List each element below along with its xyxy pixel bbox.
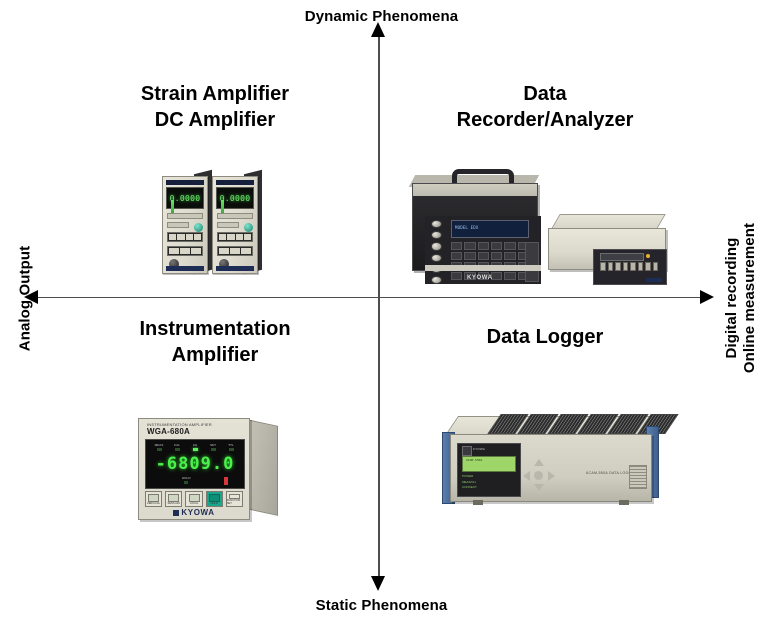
axis-label-left: Analog Output <box>17 229 34 369</box>
recorder-key <box>464 242 475 250</box>
led-icon <box>175 448 180 451</box>
amplifier-key <box>244 234 251 240</box>
wga-button-row: ZERO/CAL SENS ADJ LOCAL HOLD FUNCTION SE… <box>145 491 243 507</box>
status-led-ttl: TTL <box>224 443 238 451</box>
led-icon <box>157 448 162 451</box>
status-led-meas-label: MEAS <box>155 443 164 447</box>
expansion-port <box>623 262 629 271</box>
amplifier-key <box>180 248 190 254</box>
expansion-port <box>638 262 644 271</box>
status-led-ch-label: CH <box>193 443 197 447</box>
amplifier-slot <box>217 222 239 228</box>
kyowa-logo-icon <box>216 180 254 185</box>
quadrant-title-top-right-line1: Data <box>420 82 670 108</box>
amplifier-key <box>219 234 226 240</box>
product-image-data-logger: KYOWA UCAM-550A POWER MEAS/CH CONNECT UC… <box>432 412 682 518</box>
logger-lcd-display: UCAM-550A <box>462 456 516 472</box>
wga-button-local[interactable]: LOCAL <box>185 491 202 507</box>
kyowa-logo-icon <box>166 180 204 185</box>
wga-button-function-set-label: FUNCTION SET <box>227 499 242 505</box>
amplifier-unit: 0.0000 <box>212 176 258 274</box>
logger-lcd-line1: UCAM-550A <box>463 457 515 463</box>
recorder-key <box>504 272 515 280</box>
expansion-port <box>653 262 659 271</box>
recorder-chassis: MODEL EDX KYOWA <box>412 183 538 271</box>
amplifier-round-button-icon <box>244 223 253 232</box>
logger-indicator-connect: CONNECT <box>462 485 477 491</box>
status-led-cal-label: CAL <box>174 443 180 447</box>
recorder-knob-column <box>428 218 444 284</box>
quadrant-title-top-left-line1: Strain Amplifier <box>95 82 335 108</box>
amplifier-key <box>236 234 243 240</box>
expansion-port <box>630 262 636 271</box>
led-icon <box>184 481 188 484</box>
recorder-key <box>504 242 515 250</box>
amplifier-keypad <box>217 232 253 242</box>
wga-hold-indicator-label: HOLD <box>182 476 191 480</box>
product-image-strain-amplifier: 0.0000 0.0000 <box>150 168 262 280</box>
recorder-knob-icon <box>431 231 442 239</box>
quadrant-title-top-left: Strain Amplifier DC Amplifier <box>95 82 335 133</box>
wga-numeric-display: -6809.0 <box>152 453 238 475</box>
arrow-down-icon <box>371 576 385 591</box>
recorder-key <box>478 242 489 250</box>
logger-vent-grille <box>629 465 647 489</box>
recorder-key <box>464 252 475 260</box>
axis-label-right: Digital recording Online measurement <box>661 218 763 378</box>
recorder-key <box>451 242 462 250</box>
amplifier-key <box>169 248 179 254</box>
recorder-key <box>478 252 489 260</box>
amplifier-display: 0.0000 <box>216 187 254 209</box>
arrow-right-icon[interactable] <box>548 471 555 481</box>
recorder-key <box>504 252 515 260</box>
expansion-unit-chassis <box>548 228 666 270</box>
axis-label-right-line2: Online measurement <box>741 223 759 373</box>
logger-indicator-list: POWER MEAS/CH CONNECT <box>462 474 477 491</box>
product-image-data-recorder: MODEL EDX KYOWA <box>404 165 554 277</box>
amplifier-keypad <box>167 232 203 242</box>
horizontal-axis-line <box>32 297 710 299</box>
status-led-cal: CAL <box>170 443 184 451</box>
button-cap-icon <box>168 494 179 502</box>
quadrant-title-top-left-line2: DC Amplifier <box>95 108 335 134</box>
wga-status-led-row: MEAS CAL CH SET TTL <box>152 443 238 451</box>
status-led-set-label: SET <box>210 443 216 447</box>
recorder-key <box>451 272 462 280</box>
recorder-key <box>491 252 502 260</box>
wga-display-panel: MEAS CAL CH SET TTL -6809.0 <box>145 439 245 489</box>
amplifier-display-value: 0.0000 <box>170 194 201 203</box>
amplifier-key <box>241 248 251 254</box>
arrow-left-icon[interactable] <box>523 471 530 481</box>
recorder-knob-icon <box>431 254 442 262</box>
wga-button-zero-cal-label: ZERO/CAL <box>147 502 160 505</box>
expansion-port <box>645 262 651 271</box>
product-image-recorder-expansion-unit <box>548 212 670 286</box>
wga-model-label: WGA-680A <box>147 427 190 436</box>
amplifier-slot <box>167 222 189 228</box>
axis-label-right-line1: Digital recording <box>723 238 741 359</box>
kyowa-logo-mark-icon <box>173 510 179 516</box>
wga-hold-indicator: HOLD <box>182 476 191 484</box>
status-led-icon <box>646 254 650 258</box>
status-led-ttl-label: TTL <box>228 443 234 447</box>
wga-button-local-label: LOCAL <box>190 502 199 505</box>
wga-button-hold[interactable]: HOLD <box>206 491 223 507</box>
led-icon <box>211 448 216 451</box>
kyowa-logo-text: KYOWA <box>473 447 485 451</box>
logger-foot <box>619 500 629 505</box>
amplifier-display: 0.0000 <box>166 187 204 209</box>
recorder-key <box>451 252 462 260</box>
amplifier-unit: 0.0000 <box>162 176 208 274</box>
recorder-bottom-strip <box>425 265 541 271</box>
quadrant-title-bottom-left-line2: Amplifier <box>95 343 335 369</box>
recorder-knob-icon <box>431 276 442 284</box>
status-led-set: SET <box>206 443 220 451</box>
recorder-lcd-line1: MODEL EDX <box>455 225 478 230</box>
amplifier-key <box>169 234 176 240</box>
enter-button-icon[interactable] <box>534 471 543 480</box>
button-cap-icon <box>189 494 200 502</box>
amplifier-display-value: 0.0000 <box>220 194 251 203</box>
amplifier-key <box>230 248 240 254</box>
button-cap-icon <box>148 494 159 502</box>
status-led-meas: MEAS <box>152 443 166 451</box>
logger-direction-pad[interactable] <box>523 459 555 491</box>
amplifier-slot <box>217 213 253 219</box>
button-cap-icon <box>209 494 220 502</box>
expansion-port <box>615 262 621 271</box>
amplifier-key <box>177 234 184 240</box>
kyowa-logo-text: KYOWA <box>139 508 249 517</box>
amplifier-key <box>191 248 201 254</box>
quadrant-title-bottom-right-line1: Data Logger <box>420 325 670 351</box>
quadrant-diagram-canvas: Dynamic Phenomena Static Phenomena Analo… <box>0 0 763 628</box>
logger-chassis: KYOWA UCAM-550A POWER MEAS/CH CONNECT UC… <box>450 434 652 502</box>
led-icon <box>229 448 234 451</box>
kyowa-logo-text: KYOWA <box>467 275 493 281</box>
vertical-axis-line <box>378 34 380 586</box>
expansion-port <box>600 262 606 271</box>
amplifier-model-strip <box>216 266 254 271</box>
product-image-instrumentation-amplifier: INSTRUMENTATION AMPLIFIER WGA-680A MEAS … <box>134 416 282 520</box>
kyowa-logo-label: KYOWA <box>181 508 214 517</box>
amplifier-slot <box>167 213 203 219</box>
logger-front-panel: KYOWA UCAM-550A POWER MEAS/CH CONNECT <box>457 443 521 497</box>
expansion-port <box>608 262 614 271</box>
recorder-knob-icon <box>431 242 442 250</box>
recorder-front-panel: MODEL EDX KYOWA <box>425 216 541 284</box>
kyowa-logo-icon <box>646 278 662 282</box>
wga-button-sens-adj-label: SENS ADJ <box>168 502 181 505</box>
recorder-media-slot <box>525 242 539 282</box>
quadrant-title-bottom-left: Instrumentation Amplifier <box>95 317 335 368</box>
amplifier-model-strip <box>166 266 204 271</box>
status-led-ch: CH <box>188 443 202 451</box>
wga-button-zero-cal[interactable]: ZERO/CAL <box>145 491 162 507</box>
amplifier-key <box>219 248 229 254</box>
quadrant-title-top-right-line2: Recorder/Analyzer <box>420 108 670 134</box>
amplifier-key <box>227 234 234 240</box>
quadrant-title-bottom-right: Data Logger <box>420 325 670 351</box>
expansion-unit-card-slot <box>600 253 644 261</box>
recorder-lcd-display: MODEL EDX <box>451 220 529 238</box>
quadrant-title-bottom-left-line1: Instrumentation <box>95 317 335 343</box>
amplifier-round-button-icon <box>194 223 203 232</box>
axis-label-top: Dynamic Phenomena <box>0 8 763 25</box>
wga-button-sens-adj[interactable]: SENS ADJ <box>165 491 182 507</box>
wga-button-hold-label: HOLD <box>211 502 218 505</box>
recorder-key <box>491 242 502 250</box>
axis-label-bottom: Static Phenomena <box>0 597 763 614</box>
arrow-up-icon[interactable] <box>534 459 544 466</box>
arrow-down-icon[interactable] <box>534 484 544 491</box>
amplifier-key <box>186 234 193 240</box>
wga-front-bezel: INSTRUMENTATION AMPLIFIER WGA-680A MEAS … <box>138 418 250 520</box>
logger-foot <box>473 500 483 505</box>
amplifier-keypad <box>217 246 253 256</box>
wga-alarm-indicator-icon <box>224 477 228 485</box>
power-button-icon[interactable] <box>462 446 472 456</box>
expansion-unit-front-panel <box>593 249 667 285</box>
led-icon <box>193 448 198 451</box>
quadrant-title-top-right: Data Recorder/Analyzer <box>420 82 670 133</box>
amplifier-keypad <box>167 246 203 256</box>
amplifier-key <box>194 234 201 240</box>
recorder-knob-icon <box>431 220 442 228</box>
wga-button-function-set[interactable]: FUNCTION SET <box>226 491 243 507</box>
expansion-unit-port-row <box>600 262 658 271</box>
